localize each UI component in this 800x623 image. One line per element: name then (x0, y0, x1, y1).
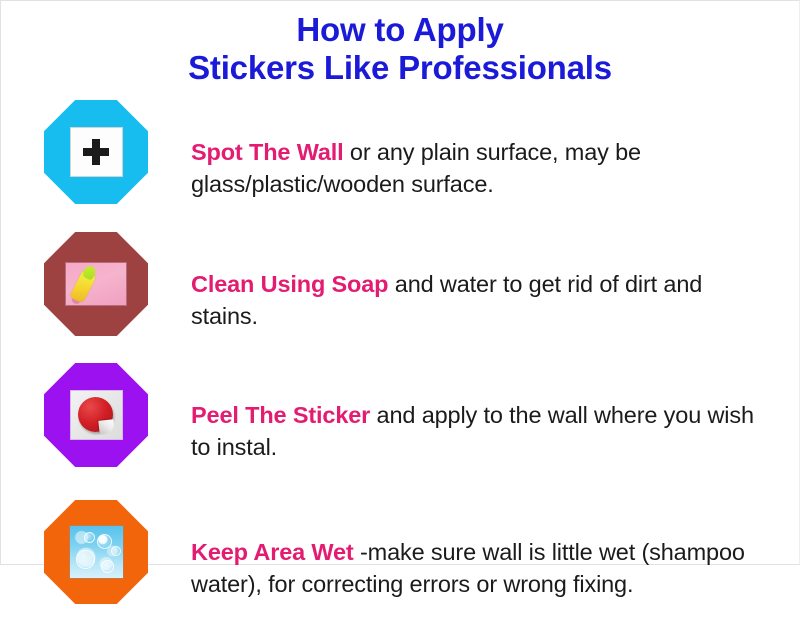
step-icon-cell (1, 98, 191, 204)
plus-tile (70, 127, 123, 177)
sticker-tile (70, 390, 123, 440)
step-text: Clean Using Soap and water to get rid of… (191, 268, 771, 332)
bubble-icon (111, 546, 121, 556)
bubble-icon (76, 550, 95, 569)
step-text-cell: Clean Using Soap and water to get rid of… (191, 230, 799, 355)
step-text: Keep Area Wet -make sure wall is little … (191, 536, 771, 600)
step-text: Peel The Sticker and apply to the wall w… (191, 399, 771, 463)
step-row: Spot The Wall or any plain surface, may … (1, 98, 799, 223)
steps-list: Spot The Wall or any plain surface, may … (1, 98, 799, 623)
step-row: Keep Area Wet -make sure wall is little … (1, 498, 799, 623)
sponge-cleaning-diamond-icon (44, 232, 148, 336)
step-text: Spot The Wall or any plain surface, may … (191, 136, 771, 200)
step-row: Peel The Sticker and apply to the wall w… (1, 361, 799, 486)
step-icon-cell (1, 230, 191, 336)
title-line-1: How to Apply (1, 11, 799, 49)
step-icon-cell (1, 361, 191, 467)
step-text-cell: Keep Area Wet -make sure wall is little … (191, 498, 799, 623)
sticker-peel-corner-icon (98, 419, 114, 434)
step-lead: Clean Using Soap (191, 271, 388, 297)
step-icon-cell (1, 498, 191, 604)
step-lead: Keep Area Wet (191, 539, 354, 565)
bubble-icon (97, 534, 112, 549)
sponge-tile (65, 262, 127, 306)
step-lead: Spot The Wall (191, 139, 344, 165)
peeling-sticker-diamond-icon (44, 363, 148, 467)
step-text-cell: Spot The Wall or any plain surface, may … (191, 98, 799, 223)
plus-icon (83, 139, 109, 165)
step-row: Clean Using Soap and water to get rid of… (1, 230, 799, 355)
plus-sign-diamond-icon (44, 100, 148, 204)
bubble-icon (101, 560, 114, 573)
water-tile (69, 525, 124, 579)
title-line-2: Stickers Like Professionals (1, 49, 799, 87)
step-lead: Peel The Sticker (191, 402, 370, 428)
page-title: How to Apply Stickers Like Professionals (1, 1, 799, 87)
step-text-cell: Peel The Sticker and apply to the wall w… (191, 361, 799, 486)
water-bubbles-diamond-icon (44, 500, 148, 604)
infographic-page: How to Apply Stickers Like Professionals… (0, 0, 800, 565)
bubble-icon (84, 532, 95, 543)
